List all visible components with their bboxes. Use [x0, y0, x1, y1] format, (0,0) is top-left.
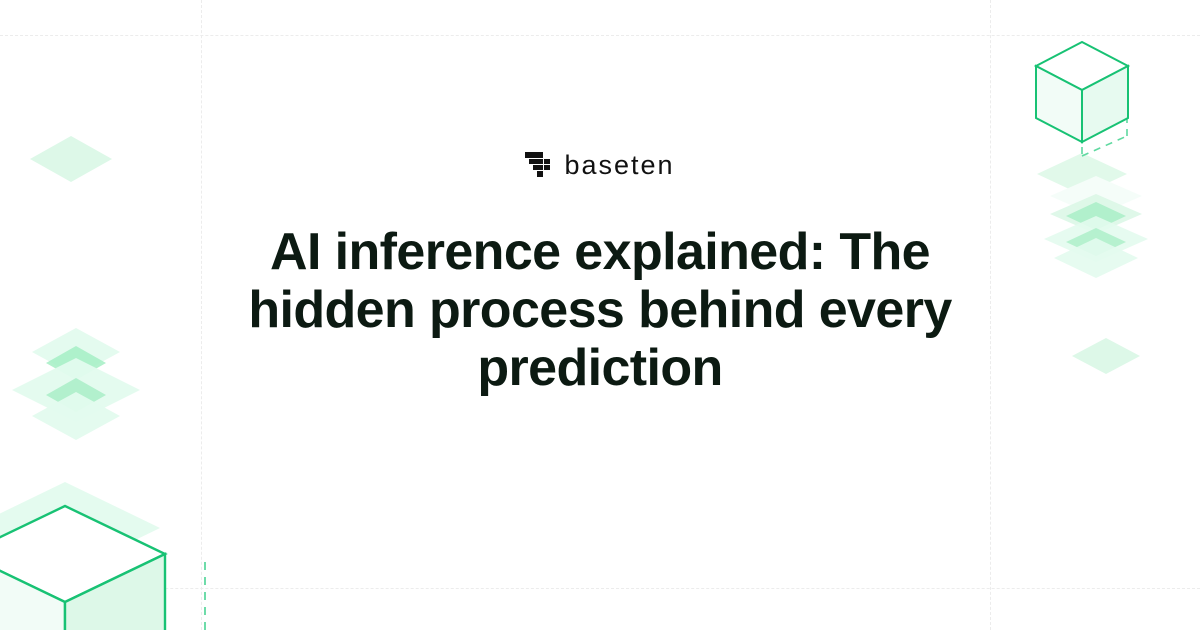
- og-share-card: baseten AI inference explained: The hidd…: [0, 0, 1200, 630]
- baseten-logo[interactable]: baseten: [525, 152, 674, 179]
- card-content: baseten AI inference explained: The hidd…: [0, 0, 1200, 630]
- baseten-logo-mark-icon: [525, 152, 551, 179]
- baseten-wordmark: baseten: [564, 152, 674, 179]
- page-title: AI inference explained: The hidden proce…: [220, 223, 980, 398]
